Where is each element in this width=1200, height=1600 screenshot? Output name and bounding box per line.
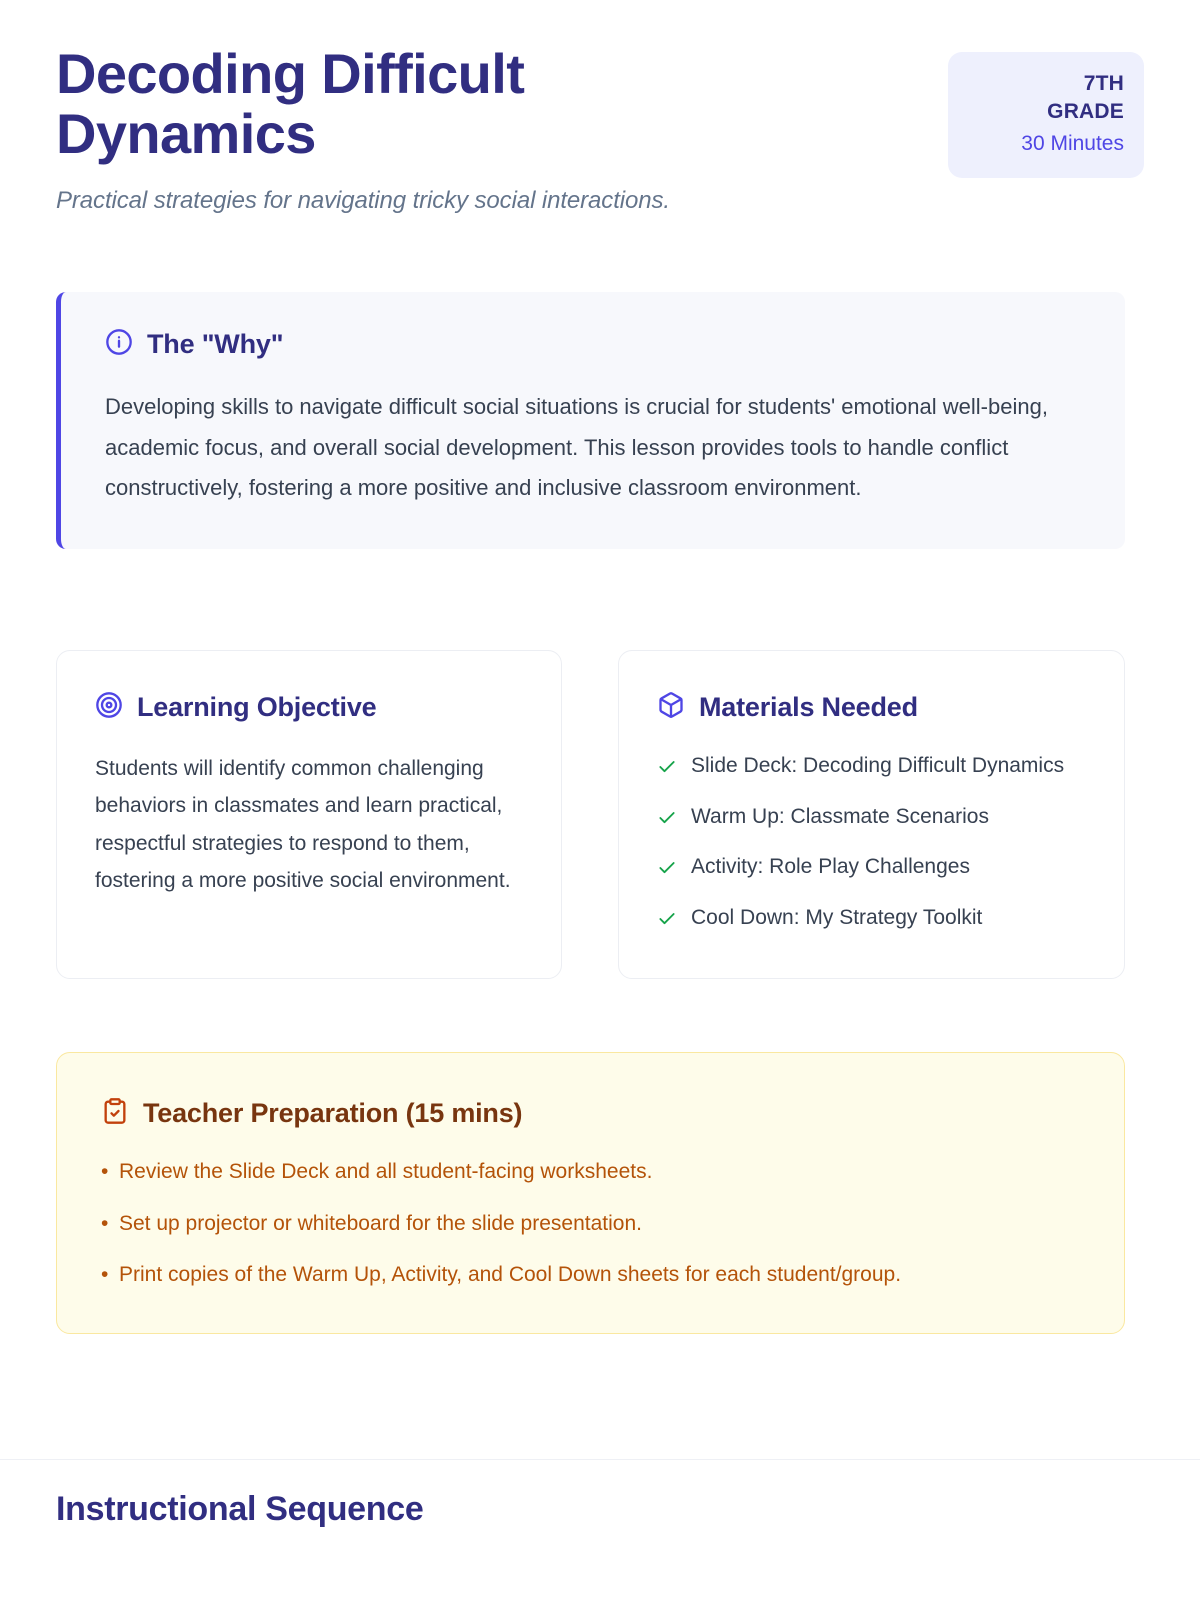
material-label: Cool Down: My Strategy Toolkit [691,902,982,935]
material-label: Activity: Role Play Challenges [691,851,970,884]
objective-card-body: Students will identify common challengin… [95,750,523,900]
info-circle-icon [105,328,133,361]
materials-list: Slide Deck: Decoding Difficult Dynamics … [657,750,1086,934]
check-icon [657,808,677,833]
objective-card-header: Learning Objective [95,691,523,724]
list-item: Warm Up: Classmate Scenarios [657,801,1086,834]
check-icon [657,858,677,883]
page-subtitle: Practical strategies for navigating tric… [56,187,676,215]
list-item: Activity: Role Play Challenges [657,851,1086,884]
teacher-preparation-card: Teacher Preparation (15 mins) Review the… [56,1052,1125,1334]
preparation-card-title: Teacher Preparation (15 mins) [143,1098,522,1129]
list-item: Slide Deck: Decoding Difficult Dynamics [657,750,1086,783]
objective-card-title: Learning Objective [137,692,376,723]
preparation-list: Review the Slide Deck and all student-fa… [101,1156,1084,1291]
instructional-sequence-heading: Instructional Sequence [56,1490,423,1529]
why-card-title: The "Why" [147,329,283,360]
grade-duration-badge: 7TH GRADE 30 Minutes [948,52,1144,178]
list-item: Review the Slide Deck and all student-fa… [101,1156,1084,1188]
package-box-icon [657,691,685,724]
materials-card-title: Materials Needed [699,692,918,723]
why-card-header: The "Why" [105,328,1085,361]
why-card-body: Developing skills to navigate difficult … [105,387,1085,509]
page-title: Decoding Difficult Dynamics [56,44,676,165]
section-divider [0,1459,1200,1460]
learning-objective-card: Learning Objective Students will identif… [56,650,562,979]
preparation-card-header: Teacher Preparation (15 mins) [101,1097,1084,1130]
materials-needed-card: Materials Needed Slide Deck: Decoding Di… [618,650,1125,979]
why-card: The "Why" Developing skills to navigate … [56,292,1125,549]
cards-row: Learning Objective Students will identif… [56,650,1125,979]
materials-card-header: Materials Needed [657,691,1086,724]
lesson-plan-page: Decoding Difficult Dynamics Practical st… [0,0,1200,1600]
page-header: Decoding Difficult Dynamics Practical st… [56,44,1144,215]
clipboard-check-icon [101,1097,129,1130]
duration-label: 30 Minutes [968,129,1124,158]
check-icon [657,757,677,782]
list-item: Set up projector or whiteboard for the s… [101,1208,1084,1240]
list-item: Print copies of the Warm Up, Activity, a… [101,1259,1084,1291]
material-label: Slide Deck: Decoding Difficult Dynamics [691,750,1064,783]
grade-line-1: 7TH [968,70,1124,98]
target-icon [95,691,123,724]
grade-line-2: GRADE [968,98,1124,126]
header-text-block: Decoding Difficult Dynamics Practical st… [56,44,676,215]
material-label: Warm Up: Classmate Scenarios [691,801,989,834]
list-item: Cool Down: My Strategy Toolkit [657,902,1086,935]
check-icon [657,909,677,934]
